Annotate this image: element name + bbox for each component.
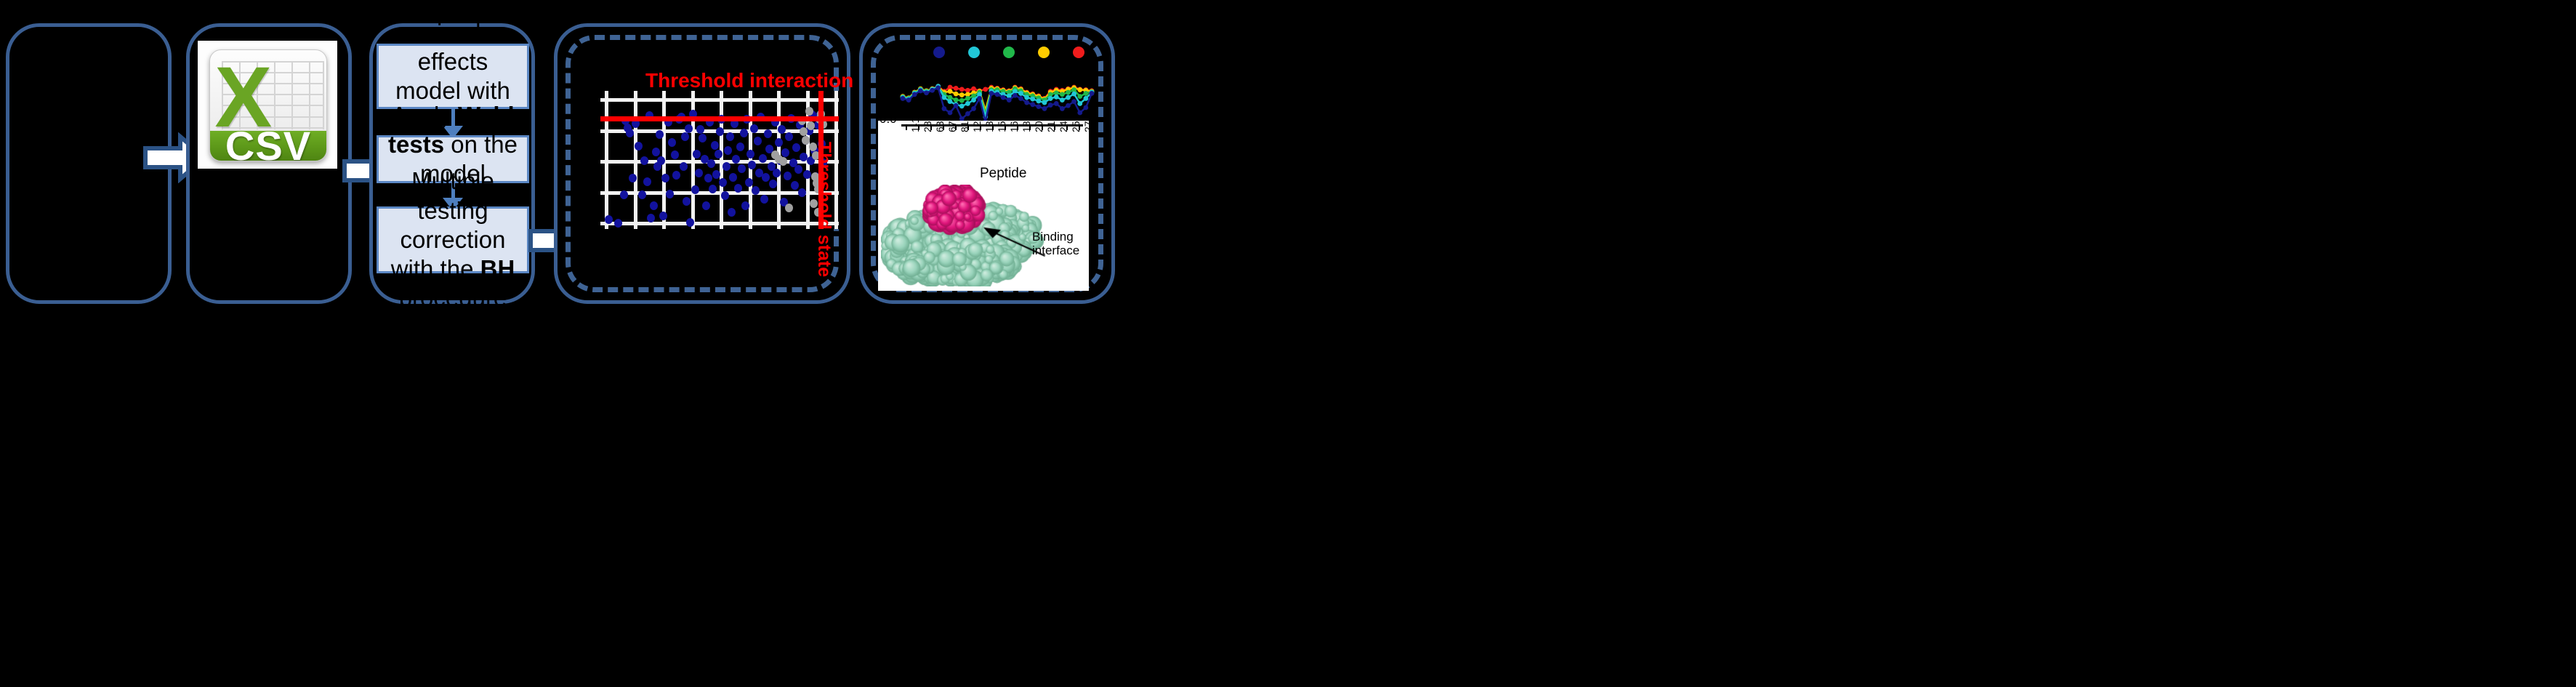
line-marker-t2 bbox=[1042, 100, 1047, 105]
scatter-point-significant bbox=[629, 174, 637, 182]
scatter-point-significant bbox=[728, 208, 736, 217]
csv-file-card: X CSV bbox=[198, 41, 337, 169]
legend-dot-t4 bbox=[1038, 47, 1050, 58]
line-marker-t2 bbox=[1066, 95, 1071, 100]
scatter-point-non-significant bbox=[779, 157, 787, 166]
scatter-point-significant bbox=[775, 138, 783, 147]
scatter-point-significant bbox=[712, 170, 720, 179]
scatter-point-significant bbox=[794, 165, 802, 174]
scatter-point-significant bbox=[736, 142, 744, 151]
scatter-point-significant bbox=[745, 178, 753, 187]
peptide-tick bbox=[906, 124, 907, 130]
scatter-point-significant bbox=[704, 174, 712, 182]
line-marker-t1 bbox=[1077, 111, 1082, 116]
scatter-point-significant bbox=[760, 195, 768, 204]
line-marker-t1 bbox=[965, 111, 970, 116]
y-tick-label-0: 0.0 bbox=[880, 121, 897, 126]
peptide-tick bbox=[1079, 124, 1080, 130]
line-marker-t1 bbox=[1018, 96, 1023, 101]
line-marker-t2 bbox=[941, 95, 946, 100]
csv-format-label: CSV bbox=[225, 122, 311, 161]
scatter-point-significant bbox=[769, 180, 777, 188]
line-marker-t2 bbox=[971, 97, 976, 103]
peptide-tick bbox=[1029, 124, 1031, 130]
scatter-point-significant bbox=[785, 132, 793, 141]
line-marker-t1 bbox=[1024, 100, 1029, 105]
scatter-point-significant bbox=[680, 162, 688, 171]
line-marker-t5 bbox=[959, 87, 965, 92]
scatter-point-significant bbox=[746, 150, 754, 158]
line-marker-t1 bbox=[977, 96, 982, 101]
line-marker-t1 bbox=[1083, 105, 1088, 111]
line-marker-t1 bbox=[1066, 103, 1071, 108]
scatter-point-significant bbox=[671, 150, 679, 159]
legend-dot-t5 bbox=[1073, 47, 1084, 58]
line-marker-t1 bbox=[935, 85, 941, 90]
legend-dot-t1 bbox=[933, 47, 945, 58]
scatter-point-significant bbox=[699, 134, 707, 142]
line-marker-t1 bbox=[1013, 93, 1018, 98]
figure-canvas: X CSV Fit a linear mixed-effects model w… bbox=[0, 0, 2576, 687]
scatter-point-significant bbox=[683, 197, 691, 206]
line-marker-t1 bbox=[1007, 97, 1012, 103]
scatter-point-significant bbox=[740, 129, 748, 137]
legend-dot-t3 bbox=[1003, 47, 1015, 58]
scatter-point-significant bbox=[750, 124, 758, 133]
line-marker-t2 bbox=[1024, 95, 1029, 100]
scatter-title-threshold-interaction: Threshold interaction bbox=[645, 69, 853, 92]
line-marker-t1 bbox=[901, 96, 906, 101]
scatter-point-significant bbox=[748, 161, 756, 169]
scatter-point-significant bbox=[685, 124, 693, 133]
peptide-tick bbox=[955, 124, 957, 130]
volcano-scatter-plot bbox=[600, 91, 839, 229]
scatter-gridline-h bbox=[600, 98, 839, 102]
step-wald-pre: Apply bbox=[391, 102, 458, 129]
scatter-point-significant bbox=[773, 169, 781, 177]
line-marker-t1 bbox=[954, 103, 959, 108]
scatter-point-significant bbox=[681, 132, 689, 141]
scatter-point-significant bbox=[620, 190, 628, 199]
peptide-tick-label: 277-284 bbox=[1082, 121, 1089, 132]
line-marker-t1 bbox=[930, 88, 935, 93]
peptide-axis-title: Peptide bbox=[980, 166, 1026, 182]
line-marker-t2 bbox=[1054, 95, 1059, 100]
line-marker-t5 bbox=[983, 87, 988, 92]
scatter-point-significant bbox=[762, 173, 770, 182]
peptide-tick bbox=[918, 124, 919, 130]
legend-dot-t2 bbox=[968, 47, 980, 58]
scatter-point-significant bbox=[726, 132, 734, 141]
scatter-point-significant bbox=[696, 125, 704, 134]
line-marker-t3 bbox=[959, 98, 965, 103]
line-marker-t3 bbox=[1066, 90, 1071, 95]
line-marker-t1 bbox=[924, 90, 929, 95]
scatter-point-significant bbox=[638, 190, 646, 199]
peptide-tick bbox=[930, 124, 932, 130]
scatter-point-significant bbox=[702, 201, 710, 210]
line-marker-t1 bbox=[995, 92, 1000, 97]
line-marker-t1 bbox=[1030, 102, 1035, 107]
scatter-point-significant bbox=[792, 143, 800, 152]
line-marker-t4 bbox=[1077, 87, 1082, 92]
peptide-tick bbox=[980, 124, 981, 130]
line-marker-t1 bbox=[1048, 103, 1053, 108]
scatter-point-significant bbox=[652, 148, 660, 156]
scatter-point-significant bbox=[784, 172, 792, 180]
scatter-point-significant bbox=[650, 201, 658, 210]
peptide-tick bbox=[992, 124, 994, 130]
line-marker-t1 bbox=[1042, 106, 1047, 111]
scatter-point-significant bbox=[791, 181, 799, 190]
scatter-point-significant bbox=[798, 188, 806, 197]
scatter-point-significant bbox=[695, 169, 703, 177]
line-marker-t1 bbox=[1036, 104, 1041, 109]
scatter-point-significant bbox=[643, 177, 651, 186]
peptide-tick bbox=[1054, 124, 1055, 130]
line-marker-t1 bbox=[918, 89, 923, 94]
scatter-point-significant bbox=[738, 164, 746, 173]
scatter-point-significant bbox=[659, 212, 667, 220]
peptide-tick bbox=[967, 124, 969, 130]
line-marker-t1 bbox=[1060, 106, 1065, 111]
scatter-point-significant bbox=[693, 150, 701, 158]
scatter-point-significant bbox=[719, 178, 727, 187]
line-marker-t1 bbox=[989, 91, 994, 96]
scatter-point-significant bbox=[716, 127, 724, 136]
line-marker-t5 bbox=[954, 86, 959, 91]
scatter-point-significant bbox=[759, 154, 767, 163]
scatter-point-non-significant bbox=[800, 127, 808, 136]
step-reml-pre: Fit a linear mixed-effects model with bbox=[395, 0, 510, 104]
scatter-point-significant bbox=[635, 142, 643, 150]
line-marker-t3 bbox=[954, 97, 959, 103]
scatter-point-significant bbox=[661, 174, 669, 182]
peptide-uptake-linechart bbox=[888, 41, 1106, 128]
peptide-tick bbox=[1042, 124, 1043, 130]
step-bh-box[interactable]: Multiple testing correction with the BH … bbox=[377, 206, 529, 273]
line-marker-t2 bbox=[1077, 101, 1082, 106]
peptide-structure-inset: 0.0 1-1528-4463-7367-7581-101122-129135-… bbox=[878, 121, 1089, 291]
excel-x-letter: X bbox=[214, 55, 261, 112]
line-marker-t1 bbox=[971, 106, 976, 111]
line-marker-t2 bbox=[965, 101, 970, 106]
scatter-point-significant bbox=[614, 219, 622, 228]
line-marker-t1 bbox=[1001, 95, 1006, 100]
scatter-point-significant bbox=[724, 146, 732, 155]
scatter-point-significant bbox=[803, 170, 811, 179]
scatter-gridline-h bbox=[600, 222, 839, 225]
line-marker-t1 bbox=[1071, 99, 1076, 104]
scatter-point-significant bbox=[764, 129, 772, 138]
line-marker-t4 bbox=[959, 92, 965, 97]
scatter-point-non-significant bbox=[805, 107, 813, 116]
line-marker-t1 bbox=[912, 92, 917, 97]
scatter-point-significant bbox=[672, 171, 680, 180]
scatter-point-significant bbox=[723, 162, 730, 171]
step-reml-box[interactable]: Fit a linear mixed-effects model with RE… bbox=[377, 44, 529, 109]
line-marker-t2 bbox=[1071, 92, 1076, 97]
scatter-point-significant bbox=[711, 141, 719, 150]
line-marker-t2 bbox=[1060, 97, 1065, 103]
line-marker-t2 bbox=[1048, 96, 1053, 101]
peptide-tick bbox=[1005, 124, 1006, 130]
line-marker-t4 bbox=[948, 89, 953, 94]
peptide-tick bbox=[1066, 124, 1068, 130]
scatter-point-significant bbox=[781, 148, 789, 157]
step-bh-bold: BH bbox=[480, 255, 515, 282]
scatter-point-significant bbox=[666, 190, 674, 198]
line-marker-t2 bbox=[1030, 97, 1035, 102]
scatter-point-significant bbox=[754, 137, 762, 145]
peptide-tick bbox=[1017, 124, 1018, 130]
binding-interface-label: Binding interface bbox=[1032, 230, 1079, 257]
line-marker-t3 bbox=[1077, 94, 1082, 99]
line-marker-t3 bbox=[965, 96, 970, 101]
line-marker-t2 bbox=[1083, 96, 1088, 101]
threshold-interaction-line bbox=[600, 116, 839, 121]
scatter-point-significant bbox=[626, 129, 634, 137]
line-marker-t1 bbox=[906, 97, 911, 103]
scatter-point-non-significant bbox=[785, 204, 793, 212]
line-marker-t1 bbox=[948, 111, 953, 116]
line-marker-t4 bbox=[954, 92, 959, 97]
scatter-point-significant bbox=[715, 150, 723, 158]
scatter-point-significant bbox=[707, 159, 715, 168]
scatter-point-significant bbox=[721, 191, 729, 200]
peptide-tick bbox=[943, 124, 944, 130]
scatter-annotation-threshold-state: Threshold state bbox=[813, 142, 834, 277]
step-bh-text: Multiple testing correction with the BH … bbox=[386, 166, 520, 313]
line-marker-t1 bbox=[1090, 91, 1095, 96]
scatter-point-significant bbox=[729, 173, 737, 182]
scatter-point-significant bbox=[691, 185, 699, 194]
line-marker-t2 bbox=[1036, 99, 1041, 104]
line-marker-t3 bbox=[1060, 92, 1065, 97]
csv-file-icon: X CSV bbox=[209, 49, 327, 161]
scatter-point-significant bbox=[668, 138, 676, 147]
line-marker-t1 bbox=[1054, 101, 1059, 106]
step-bh-post: procedure bbox=[399, 284, 507, 311]
line-marker-t2 bbox=[1018, 91, 1023, 96]
line-marker-t2 bbox=[948, 99, 953, 104]
line-marker-t1 bbox=[941, 106, 946, 111]
line-marker-t3 bbox=[1083, 91, 1088, 96]
scatter-point-significant bbox=[640, 156, 648, 165]
line-marker-t2 bbox=[959, 104, 965, 109]
csv-format-band: CSV bbox=[210, 131, 326, 161]
